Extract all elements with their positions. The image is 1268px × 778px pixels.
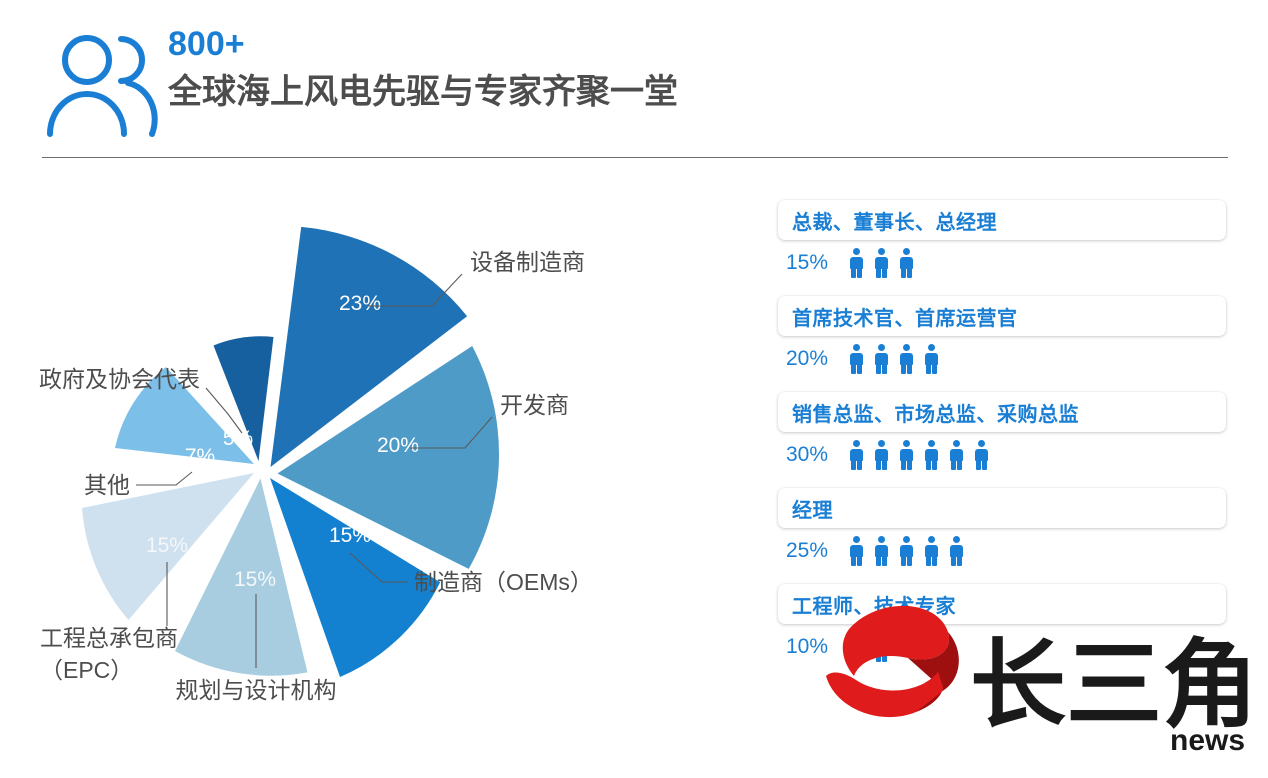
role-card[interactable]: 首席技术官、首席运营官	[778, 296, 1226, 336]
role-percent: 20%	[786, 347, 848, 371]
pie-value-2: 15%	[329, 524, 371, 547]
person-icon	[973, 440, 990, 470]
pie-label-0: 设备制造商	[470, 249, 585, 275]
roles-panel: 总裁、董事长、总经理 15% 首席技术官、首席运营官 20%	[778, 200, 1226, 680]
role-block: 经理 25%	[778, 488, 1226, 572]
person-icon	[898, 344, 915, 374]
attendee-count: 800+	[168, 22, 678, 66]
pie-value-3: 15%	[234, 568, 276, 591]
person-icon	[848, 536, 865, 566]
pie-label-6: 政府及协会代表	[39, 366, 200, 392]
role-stat-row: 20%	[778, 338, 1226, 380]
person-icon	[898, 536, 915, 566]
svg-text:news: news	[1170, 724, 1245, 757]
pie-value-5: 7%	[185, 445, 215, 468]
person-icon	[848, 248, 865, 278]
person-icon	[873, 440, 890, 470]
role-card[interactable]: 总裁、董事长、总经理	[778, 200, 1226, 240]
role-label: 工程师、技术专家	[792, 590, 956, 619]
role-percent: 30%	[786, 443, 848, 467]
person-icon	[873, 344, 890, 374]
page-header: 800+ 全球海上风电先驱与专家齐聚一堂	[42, 22, 1232, 142]
leader-line-5	[136, 472, 192, 485]
role-percent: 10%	[786, 635, 848, 659]
role-block: 销售总监、市场总监、采购总监 30%	[778, 392, 1226, 476]
role-figures	[848, 536, 965, 566]
role-card[interactable]: 工程师、技术专家	[778, 584, 1226, 624]
pie-value-0: 23%	[339, 292, 381, 315]
role-card[interactable]: 销售总监、市场总监、采购总监	[778, 392, 1226, 432]
role-label: 经理	[792, 494, 833, 523]
pie-label-4-line2: （EPC）	[40, 657, 133, 683]
pie-label-3: 规划与设计机构	[176, 677, 337, 703]
pie-value-1: 20%	[377, 434, 419, 457]
person-icon	[923, 440, 940, 470]
person-icon	[848, 440, 865, 470]
pie-label-2: 制造商（OEMs）	[414, 569, 593, 595]
role-stat-row: 30%	[778, 434, 1226, 476]
role-block: 工程师、技术专家 10%	[778, 584, 1226, 668]
pie-label-5: 其他	[84, 472, 130, 498]
pie-label-1: 开发商	[500, 392, 569, 418]
audience-pie-chart: 23% 20% 15% 15% 15% 7% 5% 设备制造商 开发商 制造商（…	[20, 190, 660, 730]
pie-value-4: 15%	[146, 534, 188, 557]
role-label: 首席技术官、首席运营官	[792, 302, 1018, 331]
person-icon	[948, 536, 965, 566]
pie-label-4-line1: 工程总承包商	[40, 625, 178, 651]
person-icon	[873, 248, 890, 278]
role-figures	[848, 248, 915, 278]
role-figures	[848, 344, 940, 374]
person-icon	[873, 536, 890, 566]
role-percent: 25%	[786, 539, 848, 563]
role-stat-row: 10%	[778, 626, 1226, 668]
person-icon	[898, 248, 915, 278]
person-icon	[898, 440, 915, 470]
person-icon	[923, 344, 940, 374]
pie-value-6: 5%	[223, 427, 253, 450]
person-icon	[848, 344, 865, 374]
role-figures	[848, 632, 890, 662]
person-icon	[873, 632, 890, 662]
header-divider	[42, 157, 1228, 158]
role-stat-row: 15%	[778, 242, 1226, 284]
person-icon	[848, 632, 865, 662]
role-block: 总裁、董事长、总经理 15%	[778, 200, 1226, 284]
role-percent: 15%	[786, 251, 848, 275]
role-label: 总裁、董事长、总经理	[792, 206, 997, 235]
header-text-group: 800+ 全球海上风电先驱与专家齐聚一堂	[168, 22, 678, 116]
role-stat-row: 25%	[778, 530, 1226, 572]
role-label: 销售总监、市场总监、采购总监	[792, 398, 1079, 427]
role-figures	[848, 440, 990, 470]
role-card[interactable]: 经理	[778, 488, 1226, 528]
role-block: 首席技术官、首席运营官 20%	[778, 296, 1226, 380]
person-icon	[923, 536, 940, 566]
person-icon	[948, 440, 965, 470]
page-title: 全球海上风电先驱与专家齐聚一堂	[168, 68, 678, 116]
two-people-icon	[42, 30, 160, 138]
